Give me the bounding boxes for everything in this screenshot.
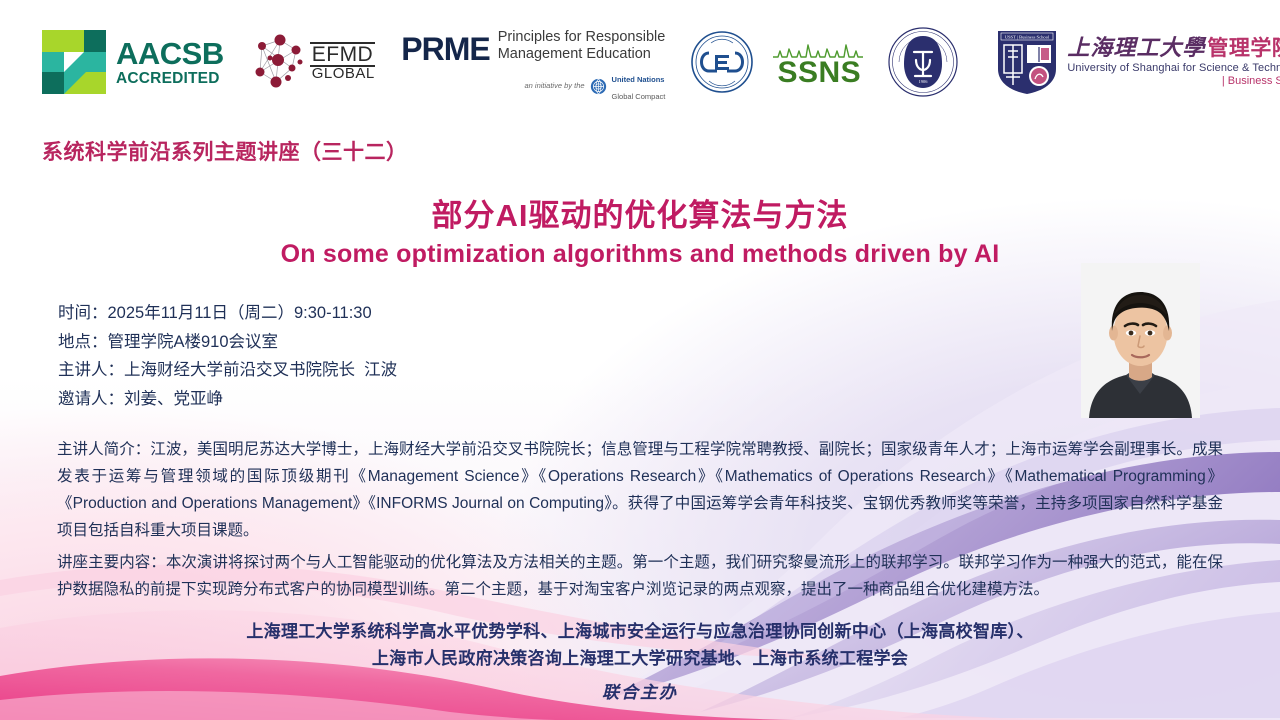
usst-university-seal: 1906 [887,26,959,98]
prme-logo: PRME Principles for Responsible Manageme… [401,21,665,104]
united-nations-globe-icon [590,78,607,95]
lecture-content-paragraph: 讲座主要内容：本次演讲将探讨两个与人工智能驱动的优化算法及方法相关的主题。第一个… [57,549,1223,603]
ssns-logo: SSNS [771,37,867,88]
accreditation-logo-band: AACSB ACCREDITED [0,0,1280,124]
aacsb-mark-icon [42,30,106,94]
detail-inviter: 邀请人：刘姜、党亚峥 [58,385,397,414]
usst-seal-icon: 1906 [887,26,959,98]
ssns-wordmark: SSNS [777,58,861,88]
usst-business-school-logo: USST | Business School 上海理工大學 [995,29,1280,95]
prme-tagline-line1: Principles for Responsible [498,29,666,46]
speaker-portrait [1081,263,1200,418]
aacsb-accredited-logo: AACSB ACCREDITED [42,30,224,94]
efmd-network-icon [250,32,306,92]
svg-text:1906: 1906 [919,79,929,84]
organizers-footer: 上海理工大学系统科学高水平优势学科、上海城市安全运行与应急治理协同创新中心（上海… [0,618,1280,703]
efmd-wordmark: EFMD [310,42,376,67]
business-school-cn-school: 管理学院 [1207,38,1280,59]
seminar-poster: AACSB ACCREDITED [0,0,1280,720]
organizer-line-1: 上海理工大学系统科学高水平优势学科、上海城市安全运行与应急治理协同创新中心（上海… [0,618,1280,645]
un-global-compact-line2: Global Compact [612,92,666,101]
series-title: 系统科学前沿系列主题讲座（三十二） [42,136,408,166]
un-global-compact-line1: United Nations [612,75,665,84]
business-school-en-school: | Business School [1067,76,1280,87]
aacsb-accredited-label: ACCREDITED [116,71,224,87]
prme-wordmark: PRME [401,33,489,65]
ses-emblem-icon [689,29,755,95]
prme-tagline-line2: Management Education [498,46,666,63]
detail-speaker: 主讲人：上海财经大学前沿交叉书院院长 江波 [58,356,397,385]
lecture-description: 主讲人简介：江波，美国明尼苏达大学博士，上海财经大学前沿交叉书院院长；信息管理与… [57,436,1223,603]
event-details: 时间：2025年11月11日（周二）9:30-11:30 地点：管理学院A楼91… [58,299,397,413]
speaker-bio-paragraph: 主讲人简介：江波，美国明尼苏达大学博士，上海财经大学前沿交叉书院院长；信息管理与… [57,436,1223,544]
jointly-organized-label: 联合主办 [0,678,1280,703]
efmd-global-label: GLOBAL [310,67,376,81]
ses-logo [689,29,755,95]
detail-time: 时间：2025年11月11日（周二）9:30-11:30 [58,299,397,328]
svg-text:USST | Business School: USST | Business School [1005,35,1050,40]
prme-initiative-label: an initiative by the [525,82,585,91]
business-school-en-university: University of Shanghai for Science & Tec… [1067,63,1280,74]
detail-location: 地点：管理学院A楼910会议室 [58,328,397,357]
speaker-portrait-image [1081,263,1200,418]
business-school-cn-university: 上海理工大學 [1067,37,1205,59]
organizer-line-2: 上海市人民政府决策咨询上海理工大学研究基地、上海市系统工程学会 [0,645,1280,672]
aacsb-wordmark: AACSB [116,38,224,69]
efmd-global-logo: EFMD GLOBAL [250,32,376,92]
business-school-shield-icon: USST | Business School [995,29,1059,95]
lecture-title-chinese: 部分AI驱动的优化算法与方法 [0,190,1280,235]
